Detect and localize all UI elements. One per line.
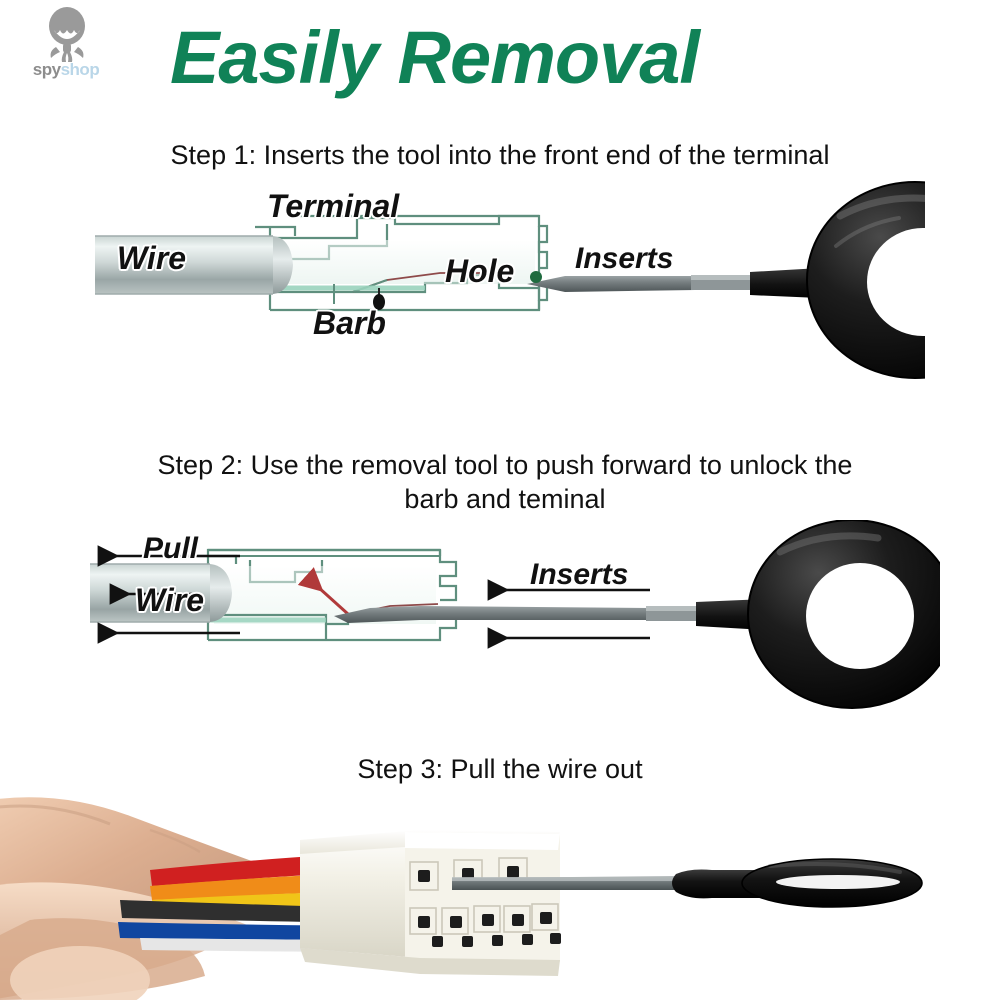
- step-2-caption: Step 2: Use the removal tool to push for…: [60, 448, 950, 516]
- step-1-diagram: Wire Terminal Barb Hole Inserts: [95, 180, 925, 410]
- brand-wordmark-spy: spy: [33, 60, 61, 79]
- step-1-caption: Step 1: Inserts the tool into the front …: [0, 138, 1000, 172]
- label-hole: Hole: [445, 253, 514, 290]
- page-title: Easily Removal: [170, 18, 870, 98]
- spy-character-icon-svg: [44, 6, 90, 62]
- label-inserts-2: Inserts: [530, 558, 628, 592]
- infographic-page: spyshop Easily Removal Step 1: Inserts t…: [0, 0, 1000, 1000]
- brand-logo: spyshop: [14, 6, 118, 94]
- spy-character-icon: [44, 6, 90, 62]
- step-3-photo: [0, 790, 1000, 1000]
- label-wire: Wire: [117, 240, 186, 277]
- terminal-unlocked-svg: [90, 520, 940, 740]
- label-pull: Pull: [143, 532, 198, 566]
- hand-connector-photo-svg: [0, 790, 1000, 1000]
- label-terminal: Terminal: [267, 188, 399, 225]
- label-wire-2: Wire: [135, 582, 204, 619]
- step-2-diagram: Pull Wire Inserts: [90, 520, 940, 740]
- terminal-cross-section-svg: [95, 180, 925, 410]
- label-inserts: Inserts: [575, 242, 673, 276]
- step-3-caption: Step 3: Pull the wire out: [0, 752, 1000, 786]
- label-barb: Barb: [313, 305, 386, 342]
- brand-wordmark-shop: shop: [61, 60, 100, 79]
- brand-wordmark: spyshop: [14, 60, 118, 80]
- hole-marker: [530, 271, 542, 283]
